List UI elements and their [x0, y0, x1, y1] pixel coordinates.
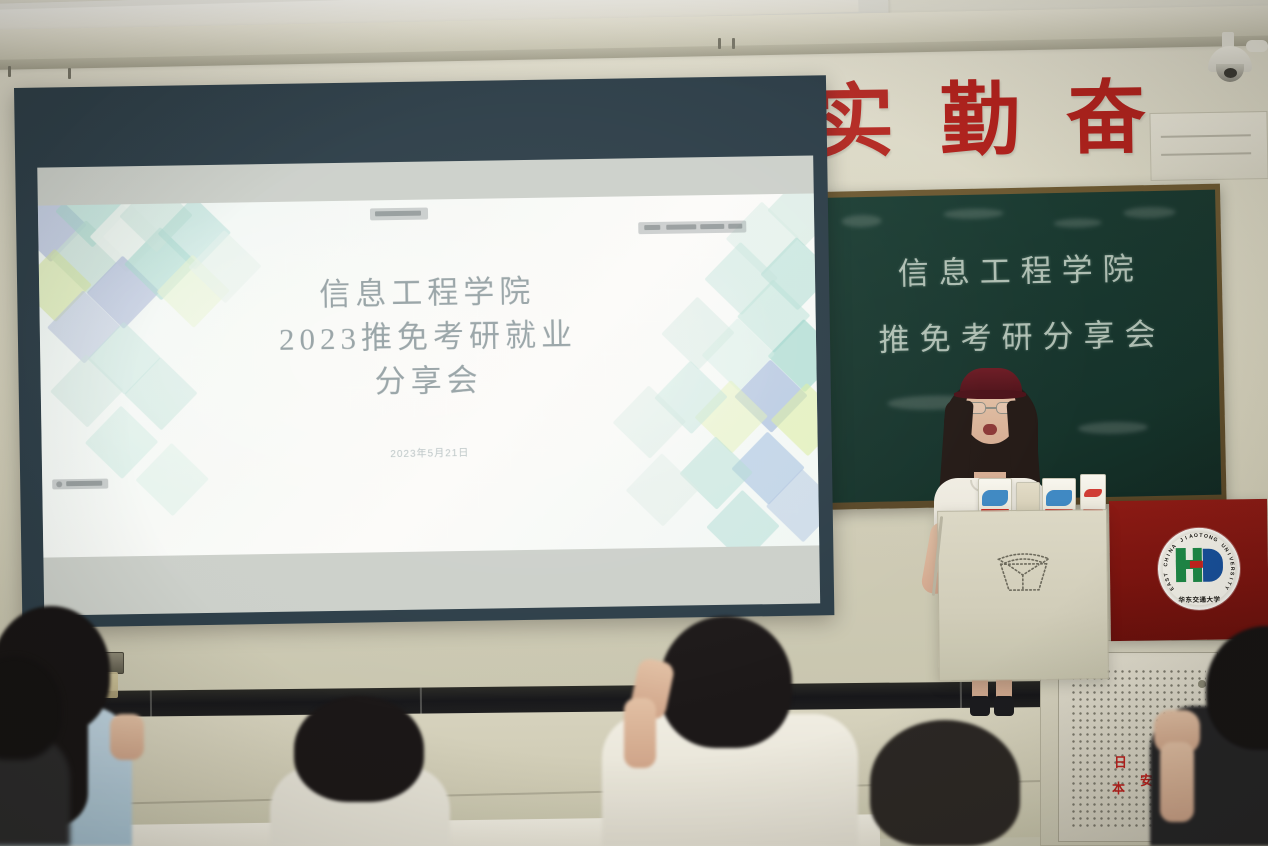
lectern-emblem-icon [984, 543, 1063, 598]
audience-head [870, 720, 1020, 846]
ceiling-hook [718, 38, 721, 49]
wall-char-2: 勤 [939, 81, 1020, 162]
audience-center-right-head [860, 716, 1040, 846]
wall-char-3: 奋 [1065, 79, 1146, 160]
slide-title-block: 信息工程学院 2023推免考研就业 分享会 [39, 265, 817, 409]
presenter-shoe-right [994, 696, 1014, 716]
blackboard-line-1: 信息工程学院 [824, 242, 1217, 295]
audience-raised-hand [110, 714, 144, 760]
photo-scene: 实 勤 奋 信息工程学院 推免考研分享会 [0, 0, 1268, 846]
audience-forearm [1160, 742, 1194, 822]
toolbar-pill-top-left[interactable] [370, 208, 428, 221]
audience-right-man [1120, 626, 1268, 846]
ceiling-hook [8, 66, 11, 77]
university-seal-icon: EASTCHINAJIAOTONGUNIVERSITY 华东交通大学 [1157, 527, 1240, 610]
audience-left-dark [0, 656, 80, 846]
camera-mount-arm [1246, 40, 1268, 52]
presenter-cap-brim [954, 390, 1026, 399]
audience-head [660, 616, 792, 748]
audience-head [294, 696, 424, 802]
ceiling-hook [68, 68, 71, 79]
projection-screen-surface: 信息工程学院 2023推免考研就业 分享会 2023年5月21日 [37, 155, 820, 615]
seal-chinese-name: 华东交通大学 [1158, 593, 1240, 604]
ceiling-hook [732, 38, 735, 49]
projection-screen-frame: 信息工程学院 2023推免考研就业 分享会 2023年5月21日 [14, 75, 834, 628]
taskbar-status-dot [56, 481, 62, 487]
lectern [937, 509, 1109, 681]
podium-red-banner: EASTCHINAJIAOTONGUNIVERSITY 华东交通大学 [1109, 499, 1268, 641]
audience-center-back [270, 696, 460, 846]
seal-emblem [1174, 546, 1225, 587]
audience-center-man [590, 616, 880, 846]
wall-slogan-banner: 实 勤 奋 [799, 59, 1241, 183]
projected-slide: 信息工程学院 2023推免考研就业 分享会 2023年5月21日 [38, 193, 819, 557]
audience-raised-arm-left [624, 698, 656, 768]
presenter-mouth [983, 424, 997, 435]
toolbar-pill-top-right[interactable] [638, 221, 746, 235]
presenter-shoe-left [970, 696, 990, 716]
